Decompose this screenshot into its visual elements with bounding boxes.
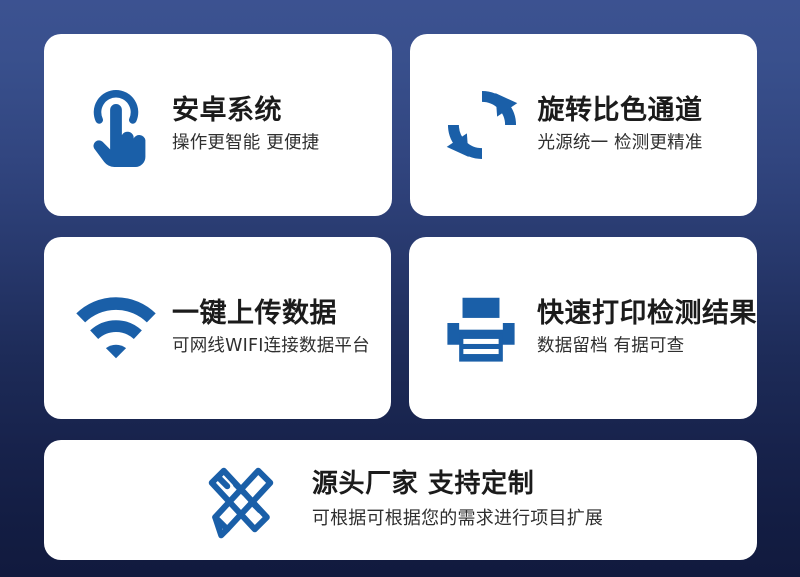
feature-highlight-board: 安卓系统 操作更智能 更便捷 旋转比色通道 光源统一 检测更精准 xyxy=(0,0,800,577)
feature-card-text: 源头厂家 支持定制 可根据可根据您的需求进行项目扩展 xyxy=(312,469,603,530)
feature-card-text: 一键上传数据 可网线WIFI连接数据平台 xyxy=(172,298,370,359)
feature-card-subtitle: 操作更智能 更便捷 xyxy=(172,133,319,155)
rotate-cycle-icon xyxy=(440,83,524,167)
feature-card-text: 安卓系统 操作更智能 更便捷 xyxy=(172,95,319,156)
feature-card-subtitle: 可网线WIFI连接数据平台 xyxy=(172,336,370,358)
feature-card-row-2: 一键上传数据 可网线WIFI连接数据平台 快速打印检测结果 数据留档 有据可查 xyxy=(44,237,757,419)
touch-tap-icon xyxy=(74,83,158,167)
feature-card-text: 旋转比色通道 光源统一 检测更精准 xyxy=(538,95,703,156)
feature-card-title: 源头厂家 支持定制 xyxy=(312,469,603,500)
feature-card-android-system[interactable]: 安卓系统 操作更智能 更便捷 xyxy=(44,34,392,216)
feature-card-title: 旋转比色通道 xyxy=(538,95,703,127)
pencil-ruler-icon xyxy=(198,457,284,543)
feature-card-subtitle: 可根据可根据您的需求进行项目扩展 xyxy=(312,508,603,531)
wifi-icon xyxy=(74,286,158,370)
feature-card-row-1: 安卓系统 操作更智能 更便捷 旋转比色通道 光源统一 检测更精准 xyxy=(44,34,757,216)
feature-card-row-3: 源头厂家 支持定制 可根据可根据您的需求进行项目扩展 xyxy=(44,440,757,560)
feature-card-title: 快速打印检测结果 xyxy=(537,298,757,330)
feature-card-subtitle: 光源统一 检测更精准 xyxy=(538,133,703,155)
feature-card-subtitle: 数据留档 有据可查 xyxy=(537,336,757,358)
feature-card-fast-print-results[interactable]: 快速打印检测结果 数据留档 有据可查 xyxy=(409,237,757,419)
feature-card-text: 快速打印检测结果 数据留档 有据可查 xyxy=(537,298,757,359)
feature-card-manufacturer-customization[interactable]: 源头厂家 支持定制 可根据可根据您的需求进行项目扩展 xyxy=(44,440,757,560)
feature-card-title: 一键上传数据 xyxy=(172,298,370,330)
feature-card-title: 安卓系统 xyxy=(172,95,319,127)
feature-card-rotating-colorimetric-channel[interactable]: 旋转比色通道 光源统一 检测更精准 xyxy=(410,34,758,216)
feature-card-content: 源头厂家 支持定制 可根据可根据您的需求进行项目扩展 xyxy=(198,457,603,543)
printer-icon xyxy=(439,286,523,370)
feature-card-one-click-upload[interactable]: 一键上传数据 可网线WIFI连接数据平台 xyxy=(44,237,391,419)
